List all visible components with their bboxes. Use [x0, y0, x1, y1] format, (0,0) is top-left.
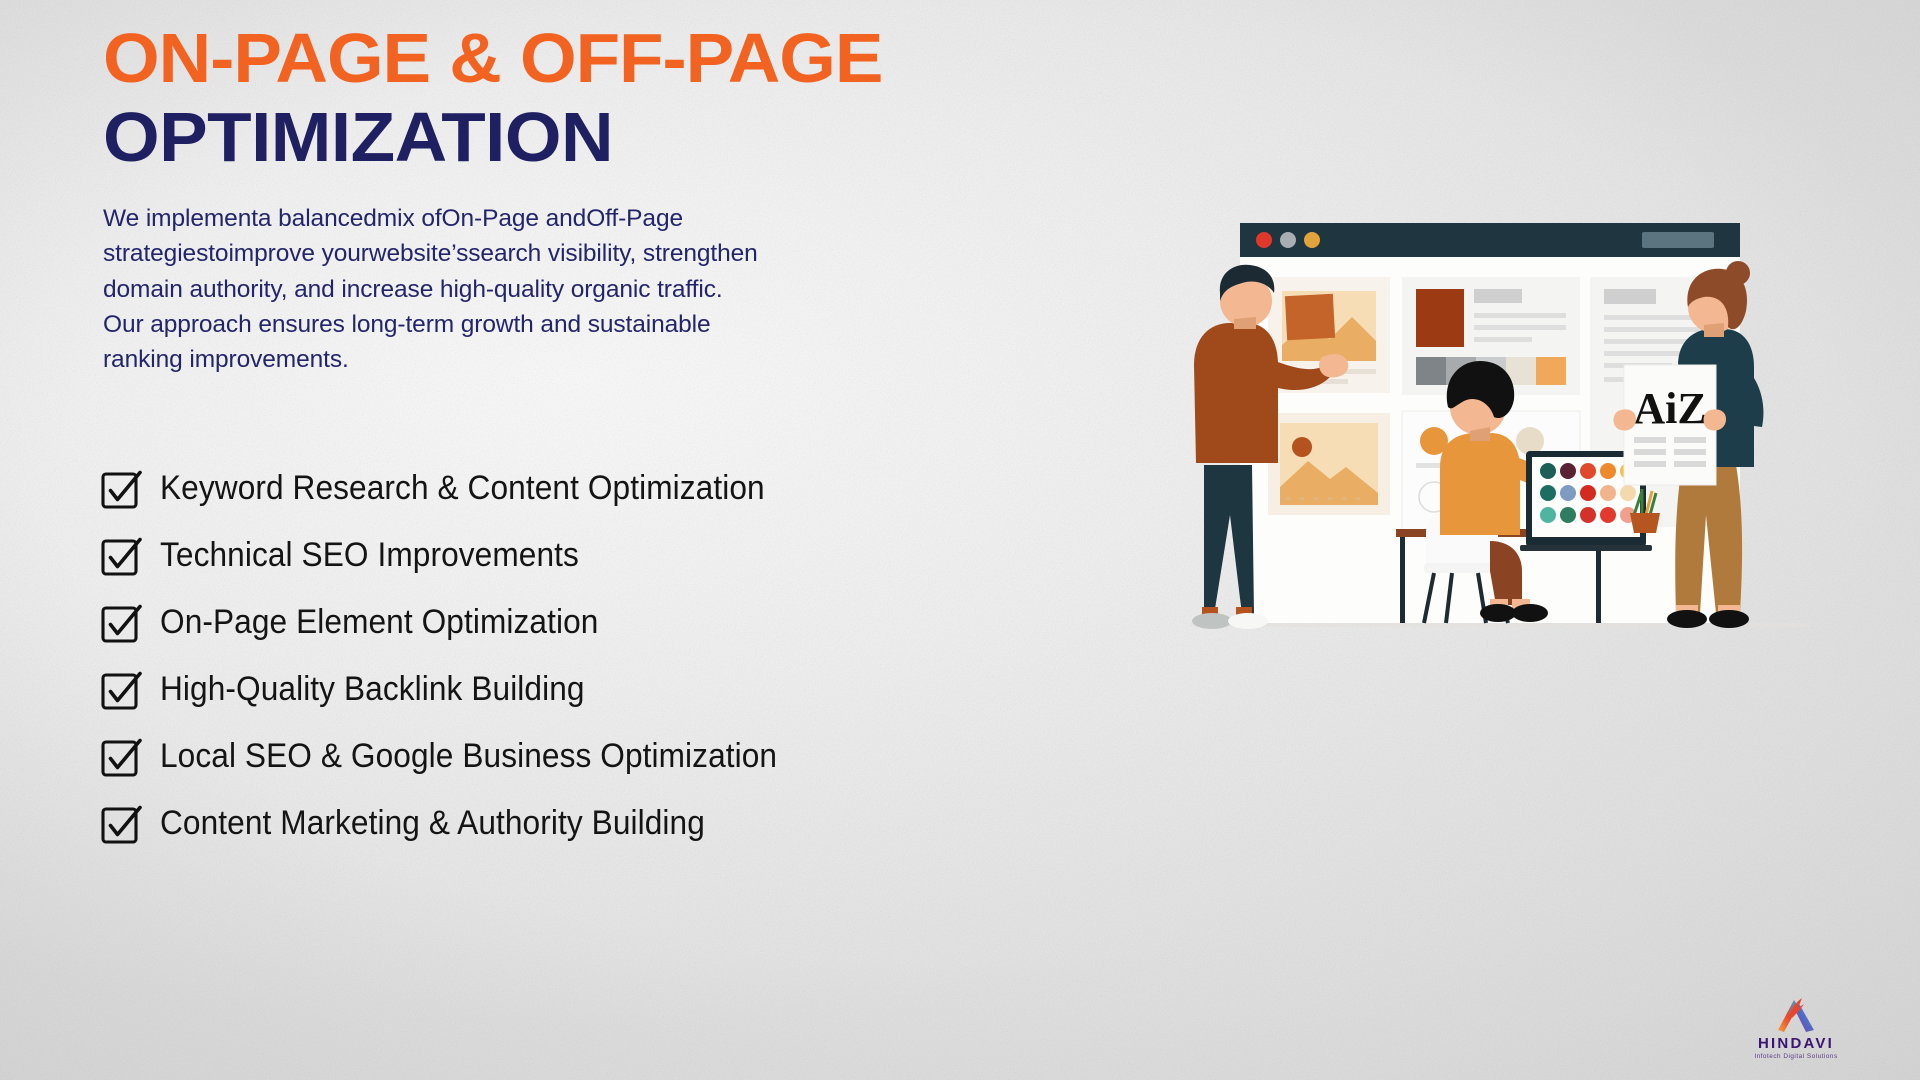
intro-paragraph: We implementa balancedmix ofOn-Page andO… [103, 202, 863, 377]
checkbox-checked-icon[interactable] [100, 602, 142, 644]
list-item-label: On-Page Element Optimization [160, 603, 598, 642]
slide-root: ON-PAGE & OFF-PAGE OPTIMIZATION We imple… [0, 0, 1920, 1080]
hindavi-arrow-logo-icon [1772, 994, 1820, 1034]
list-item-label: Content Marketing & Authority Building [160, 804, 705, 843]
list-item[interactable]: On-Page Element Optimization [100, 589, 1000, 656]
list-item[interactable]: Keyword Research & Content Optimization [100, 455, 1000, 522]
logo-tagline: Infotech Digital Solutions [1716, 1054, 1876, 1060]
page-title-line1: ON-PAGE & OFF-PAGE [103, 20, 1039, 97]
feature-checklist: Keyword Research & Content Optimization … [100, 455, 1000, 857]
list-item[interactable]: Content Marketing & Authority Building [100, 790, 1000, 857]
intro-line-4: Our approach ensures long-term growth an… [103, 308, 863, 341]
checkbox-checked-icon[interactable] [100, 669, 142, 711]
intro-line-2: strategiestoimprove yourwebsite’ssearch … [103, 237, 863, 270]
list-item[interactable]: Local SEO & Google Business Optimization [100, 723, 1000, 790]
intro-line-3: domain authority, and increase high-qual… [103, 273, 863, 306]
list-item-label: Local SEO & Google Business Optimization [160, 737, 777, 776]
checkbox-checked-icon[interactable] [100, 468, 142, 510]
list-item[interactable]: Technical SEO Improvements [100, 522, 1000, 589]
checkbox-checked-icon[interactable] [100, 803, 142, 845]
intro-line-1: We implementa balancedmix ofOn-Page andO… [103, 202, 863, 235]
checkbox-checked-icon[interactable] [100, 736, 142, 778]
list-item[interactable]: High-Quality Backlink Building [100, 656, 1000, 723]
list-item-label: Keyword Research & Content Optimization [160, 469, 765, 508]
poster-text: AiZ [1633, 384, 1706, 433]
list-item-label: Technical SEO Improvements [160, 536, 579, 575]
brand-logo[interactable]: HINDAVI Infotech Digital Solutions [1716, 994, 1876, 1060]
page-title-line2: OPTIMIZATION [103, 99, 1039, 176]
content-column: ON-PAGE & OFF-PAGE OPTIMIZATION We imple… [103, 20, 1003, 377]
checkbox-checked-icon[interactable] [100, 535, 142, 577]
intro-line-5: ranking improvements. [103, 343, 863, 376]
team-web-design-collaboration-illustration: AiZ [1190, 215, 1810, 675]
list-item-label: High-Quality Backlink Building [160, 670, 585, 709]
logo-name: HINDAVI [1716, 1036, 1876, 1051]
